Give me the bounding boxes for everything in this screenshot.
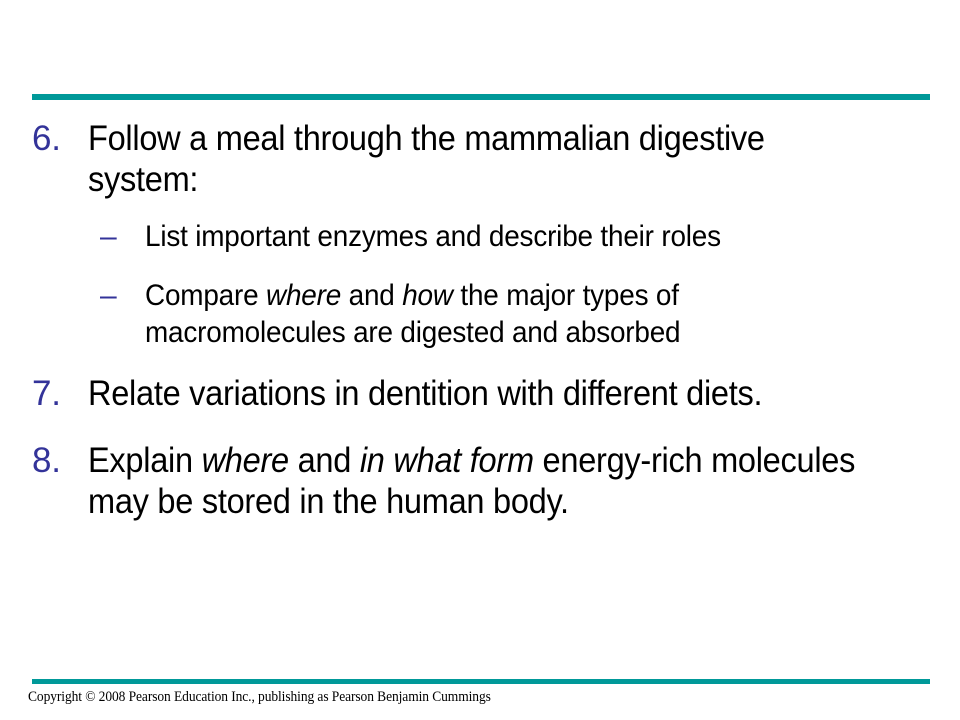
dash-bullet-icon: – bbox=[100, 277, 145, 314]
list-item: 8. Explain where and in what form energy… bbox=[0, 440, 960, 522]
text-run-emphasis: in what form bbox=[360, 441, 534, 480]
text-run-emphasis: how bbox=[402, 279, 453, 312]
list-item: – Compare where and how the major types … bbox=[0, 277, 960, 351]
list-item-text: Follow a meal through the mammalian dige… bbox=[88, 118, 873, 200]
objectives-list: 6. Follow a meal through the mammalian d… bbox=[0, 118, 960, 540]
list-item: 7. Relate variations in dentition with d… bbox=[0, 373, 960, 414]
list-item-number: 7. bbox=[32, 373, 88, 414]
copyright-footer: Copyright © 2008 Pearson Education Inc.,… bbox=[28, 688, 491, 706]
text-run: Explain bbox=[88, 441, 202, 480]
text-run: Relate variations in dentition with diff… bbox=[88, 374, 762, 413]
sub-list: – List important enzymes and describe th… bbox=[0, 218, 960, 351]
list-item-number: 6. bbox=[32, 118, 88, 159]
list-item-text: Compare where and how the major types of… bbox=[145, 277, 847, 351]
list-item-number: 8. bbox=[32, 440, 88, 481]
list-item: – List important enzymes and describe th… bbox=[0, 218, 960, 255]
bottom-divider-rule bbox=[32, 679, 930, 684]
text-run: Compare bbox=[145, 279, 266, 312]
text-run-emphasis: where bbox=[202, 441, 289, 480]
text-run: List important enzymes and describe thei… bbox=[145, 220, 721, 253]
list-item-text: List important enzymes and describe thei… bbox=[145, 218, 847, 255]
text-run-emphasis: where bbox=[266, 279, 341, 312]
slide-canvas: 6. Follow a meal through the mammalian d… bbox=[0, 0, 960, 720]
list-item: 6. Follow a meal through the mammalian d… bbox=[0, 118, 960, 200]
dash-bullet-icon: – bbox=[100, 218, 145, 255]
list-item-text: Explain where and in what form energy-ri… bbox=[88, 440, 873, 522]
list-item-text: Relate variations in dentition with diff… bbox=[88, 373, 873, 414]
text-run: and bbox=[289, 441, 360, 480]
top-divider-rule bbox=[32, 94, 930, 100]
text-run: and bbox=[341, 279, 402, 312]
